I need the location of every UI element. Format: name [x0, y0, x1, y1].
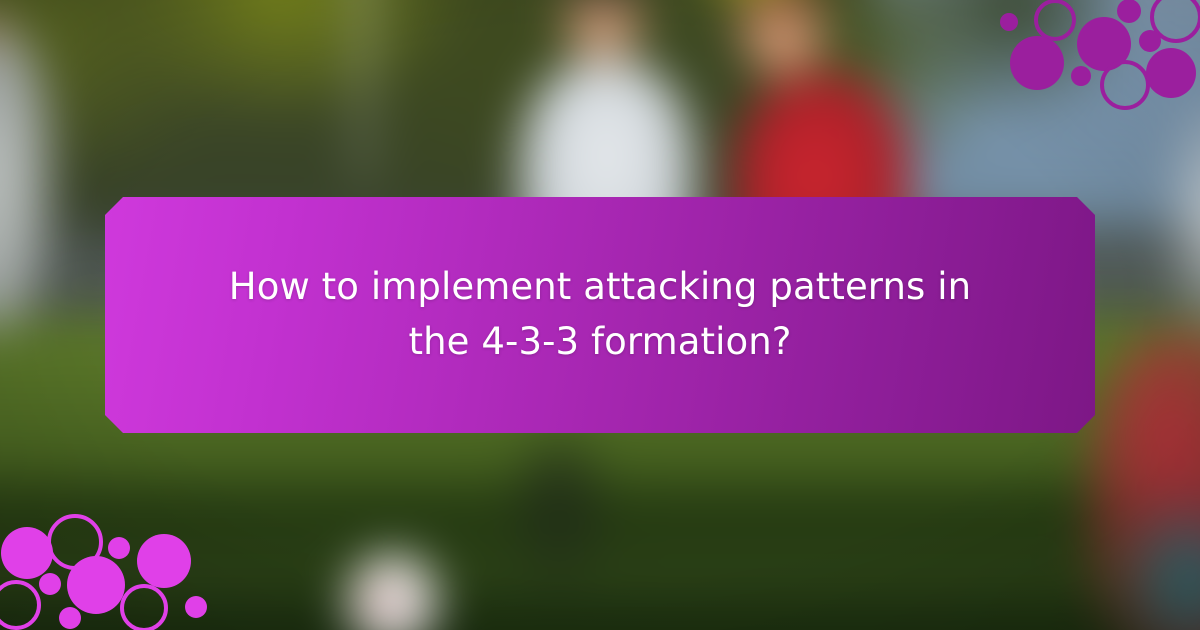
- decorative-dot-outline: [1034, 0, 1076, 41]
- decorative-dot-filled: [137, 534, 191, 588]
- decorative-dot-filled: [39, 573, 61, 595]
- decorative-dot-outline: [0, 580, 41, 630]
- page-title: How to implement attacking patterns in t…: [220, 260, 980, 370]
- decorative-dot-filled: [1000, 13, 1018, 31]
- decorative-dot-filled: [59, 607, 81, 629]
- decorative-dot-filled: [1117, 0, 1141, 23]
- decorative-dot-filled: [1139, 30, 1161, 52]
- decorative-dot-filled: [108, 537, 130, 559]
- decorative-dot-outline: [1100, 60, 1150, 110]
- decorative-dot-filled: [67, 556, 125, 614]
- share-card: How to implement attacking patterns in t…: [0, 0, 1200, 630]
- circle-cluster-bottom-left: [0, 505, 235, 630]
- decorative-dot-outline: [120, 584, 168, 630]
- decorative-dot-filled: [185, 596, 207, 618]
- decorative-dot-filled: [1, 527, 53, 579]
- circle-cluster-top-right: [980, 0, 1200, 125]
- decorative-dot-filled: [1146, 48, 1196, 98]
- headline-banner: How to implement attacking patterns in t…: [105, 197, 1095, 433]
- decorative-dot-filled: [1010, 36, 1064, 90]
- decorative-dot-filled: [1071, 66, 1091, 86]
